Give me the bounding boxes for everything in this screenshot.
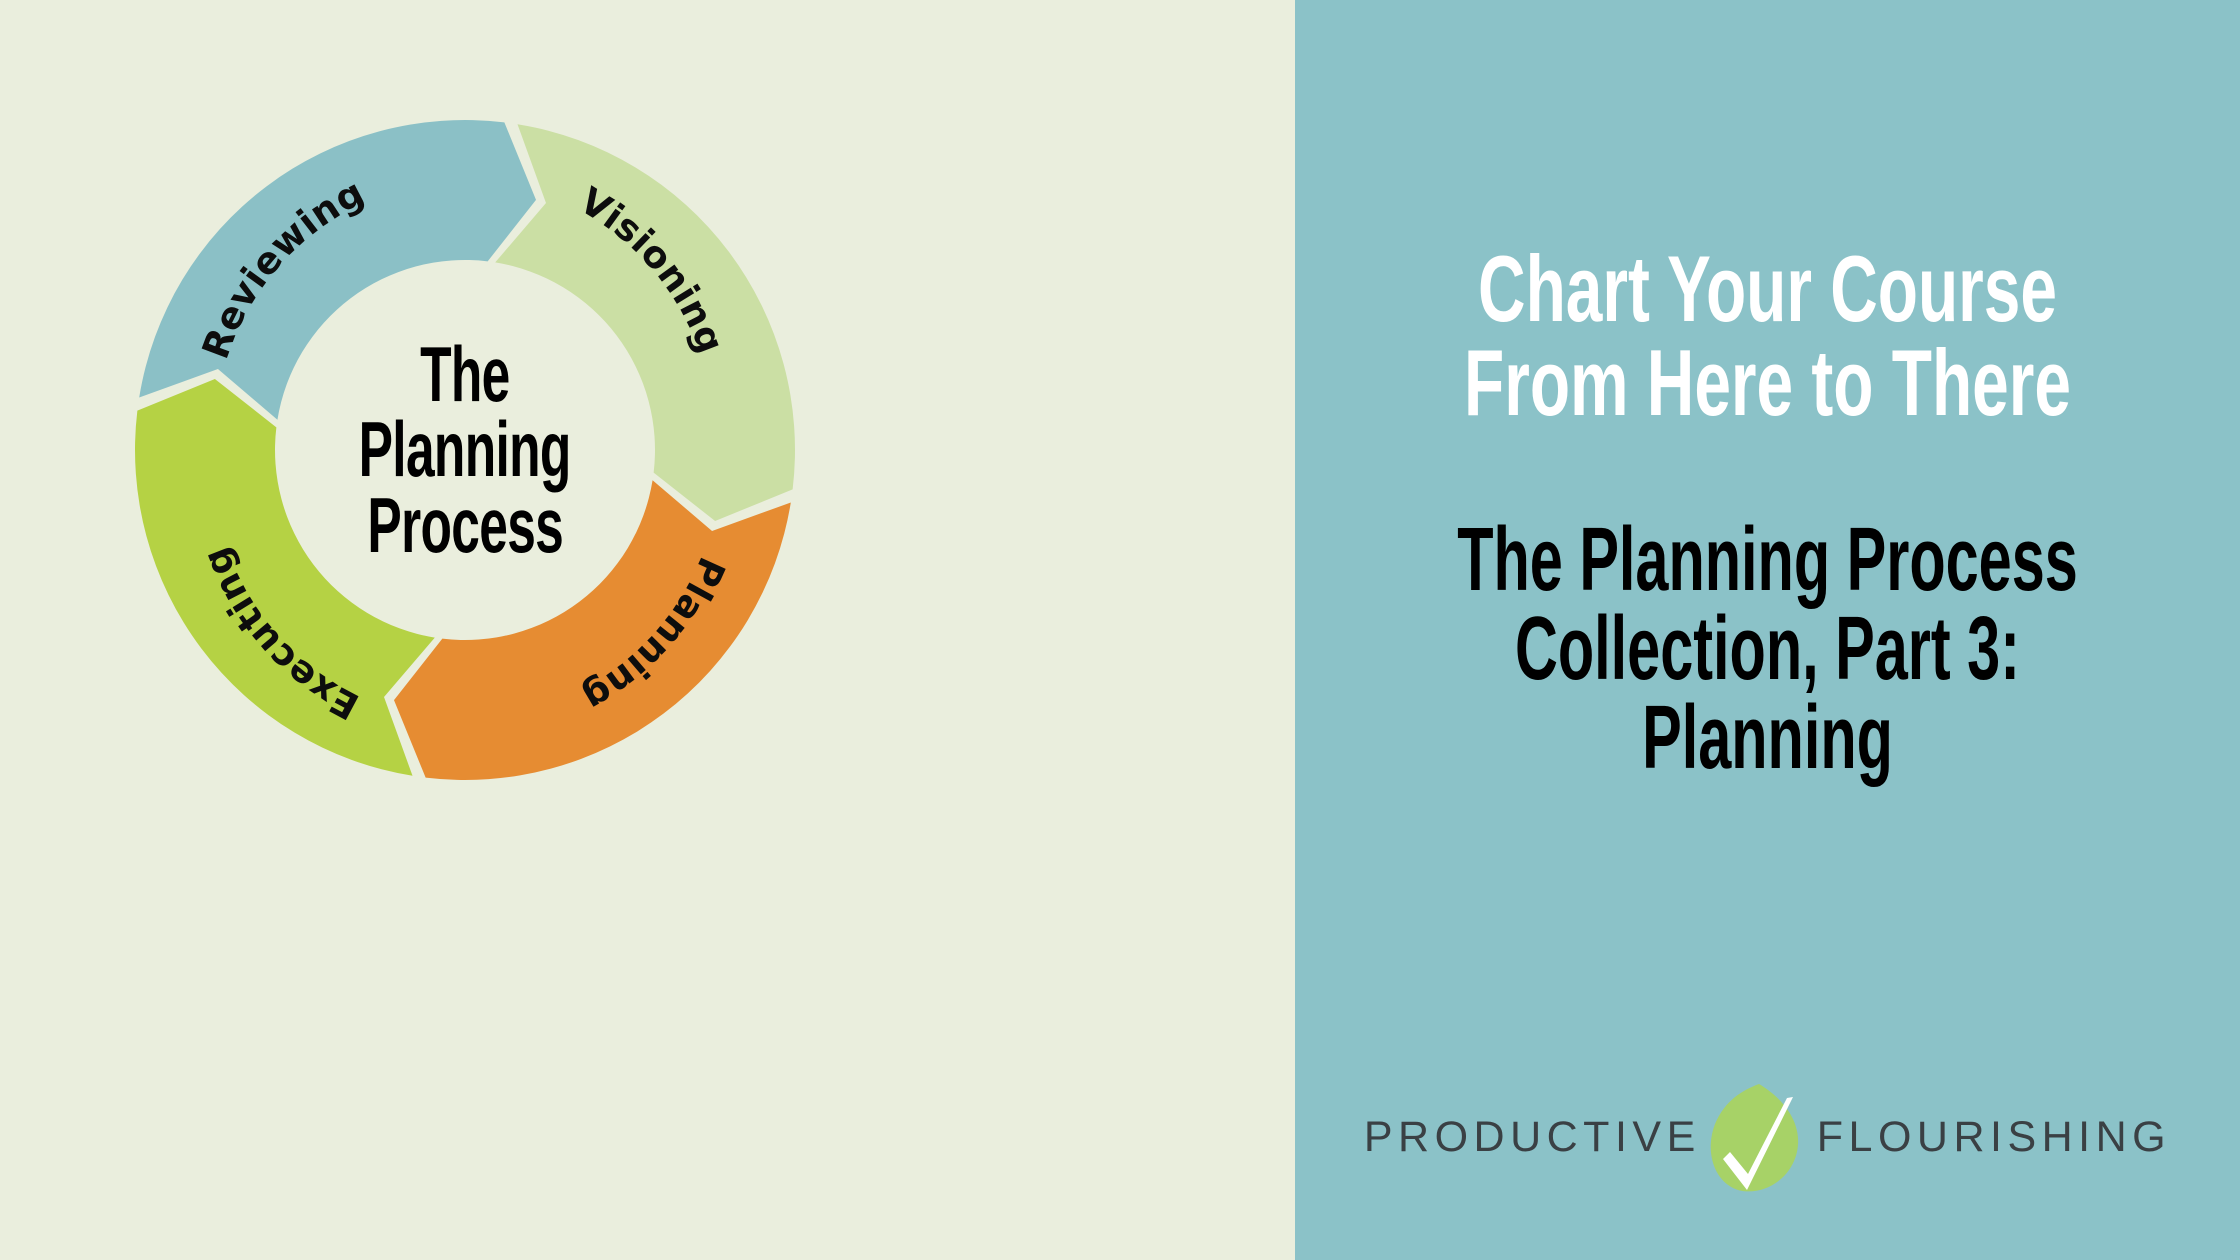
left-panel: Visioning Planning Executing Reviewing T… — [0, 0, 1295, 1260]
slide-canvas: Visioning Planning Executing Reviewing T… — [0, 0, 2240, 1260]
logo-word-left: PRODUCTIVE — [1364, 1116, 1701, 1159]
right-panel: Chart Your Course From Here to There The… — [1295, 0, 2240, 1260]
subheadline-line-2: Collection, Part 3: — [1456, 605, 2080, 694]
center-title-line-3: Process — [367, 488, 563, 564]
leaf-icon — [1703, 1078, 1815, 1196]
headline-line-1: Chart Your Course — [1437, 242, 2099, 336]
subheadline: The Planning Process Collection, Part 3:… — [1295, 516, 2240, 783]
cycle-center-title: The Planning Process — [298, 287, 632, 613]
headline-line-2: From Here to There — [1437, 336, 2099, 430]
productive-flourishing-logo[interactable]: PRODUCTIVE FLOURISHING — [1295, 1078, 2240, 1196]
headline: Chart Your Course From Here to There — [1295, 242, 2240, 430]
logo-word-right: FLOURISHING — [1817, 1116, 2171, 1159]
planning-process-cycle-diagram: Visioning Planning Executing Reviewing T… — [90, 75, 840, 825]
subheadline-line-1: The Planning Process — [1456, 516, 2080, 605]
center-title-line-1: The — [420, 337, 510, 413]
subheadline-line-3: Planning — [1456, 694, 2080, 783]
center-title-line-2: Planning — [359, 412, 571, 488]
